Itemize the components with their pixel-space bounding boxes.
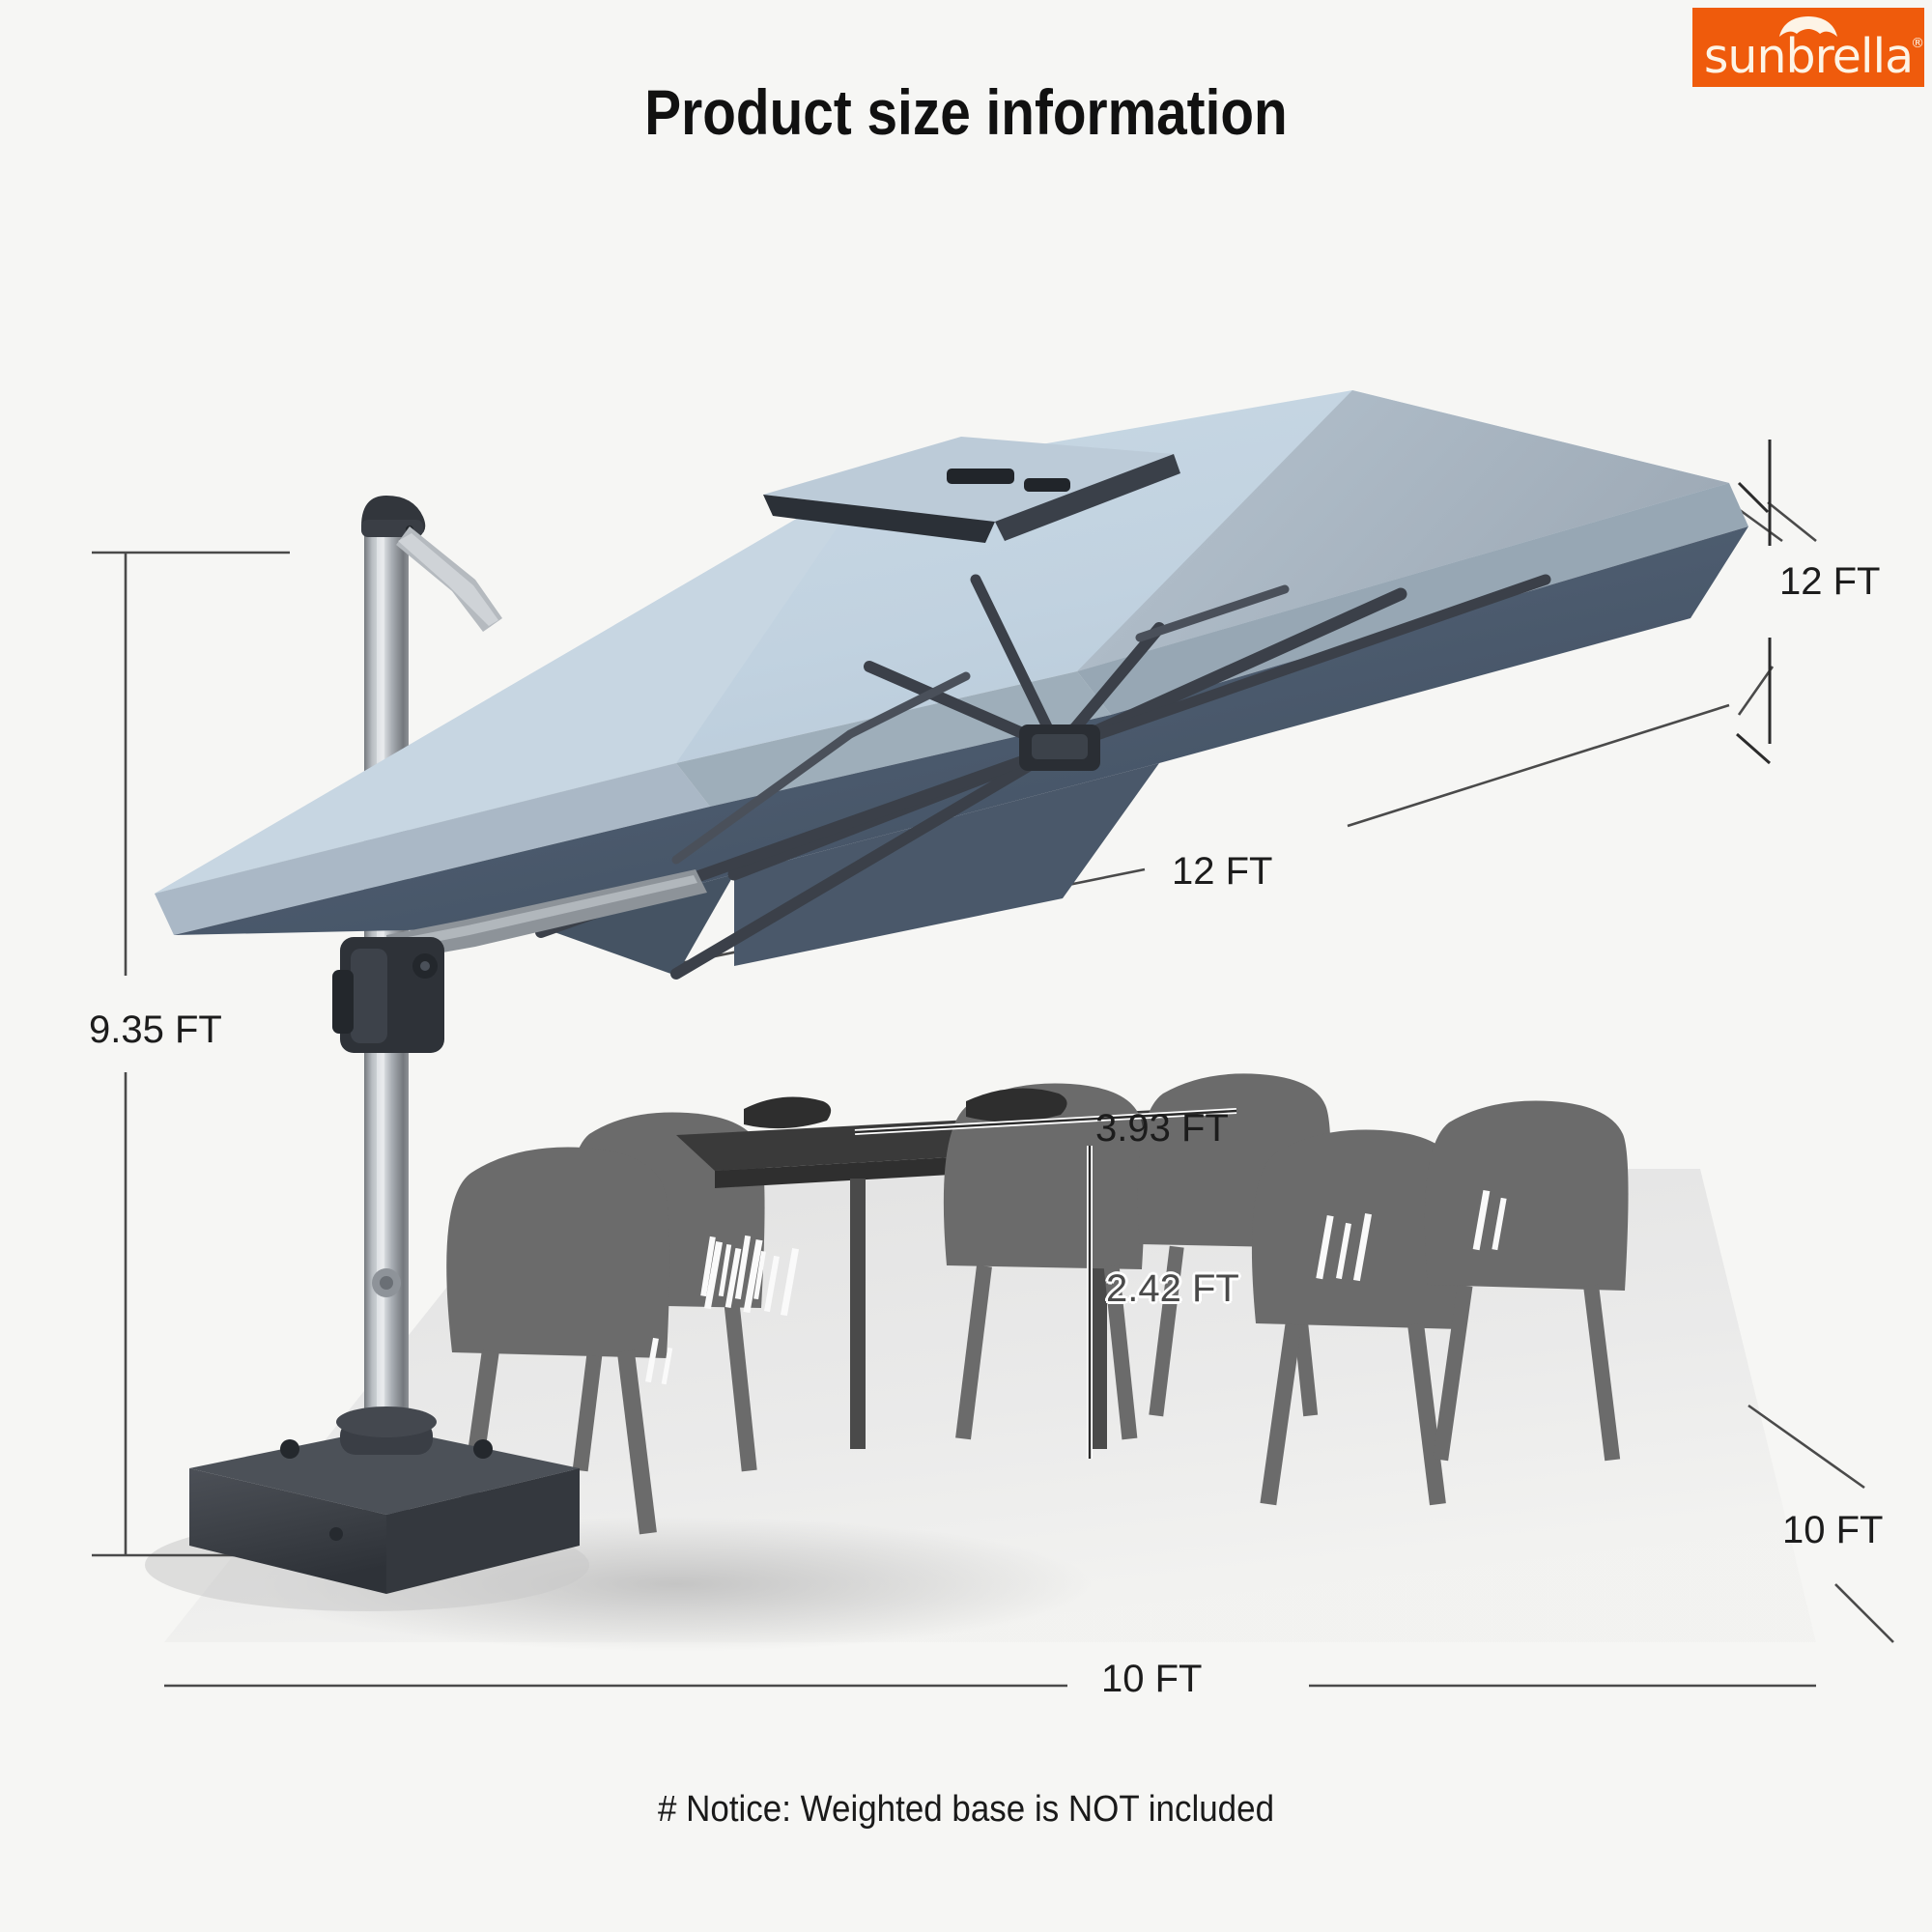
infographic-canvas: sunbrella ® Product size information	[0, 0, 1932, 1932]
dimension-ground-depth: 10 FT	[1782, 1509, 1883, 1552]
crank-handle	[372, 1268, 401, 1297]
dimension-total-height: 9.35 FT	[89, 1009, 222, 1052]
dimension-canopy-width-bottom: 12 FT	[1172, 850, 1272, 894]
tilt-joint-housing	[332, 937, 444, 1053]
umbrella-icon	[1778, 15, 1838, 39]
dimension-table-width: 3.93 FT	[1095, 1107, 1229, 1151]
dimension-canopy-depth-right: 12 FT	[1779, 560, 1880, 604]
right-depth-leader	[1737, 440, 1770, 763]
upper-support-arm	[396, 526, 502, 632]
notice-text: # Notice: Weighted base is NOT included	[77, 1789, 1855, 1831]
canopy-hub	[1019, 724, 1100, 771]
pole-top-cap	[361, 496, 425, 537]
product-illustration	[0, 0, 1932, 1932]
dimension-ground-width: 10 FT	[1101, 1658, 1202, 1701]
dimension-table-height: 2.42 FT	[1106, 1267, 1239, 1311]
